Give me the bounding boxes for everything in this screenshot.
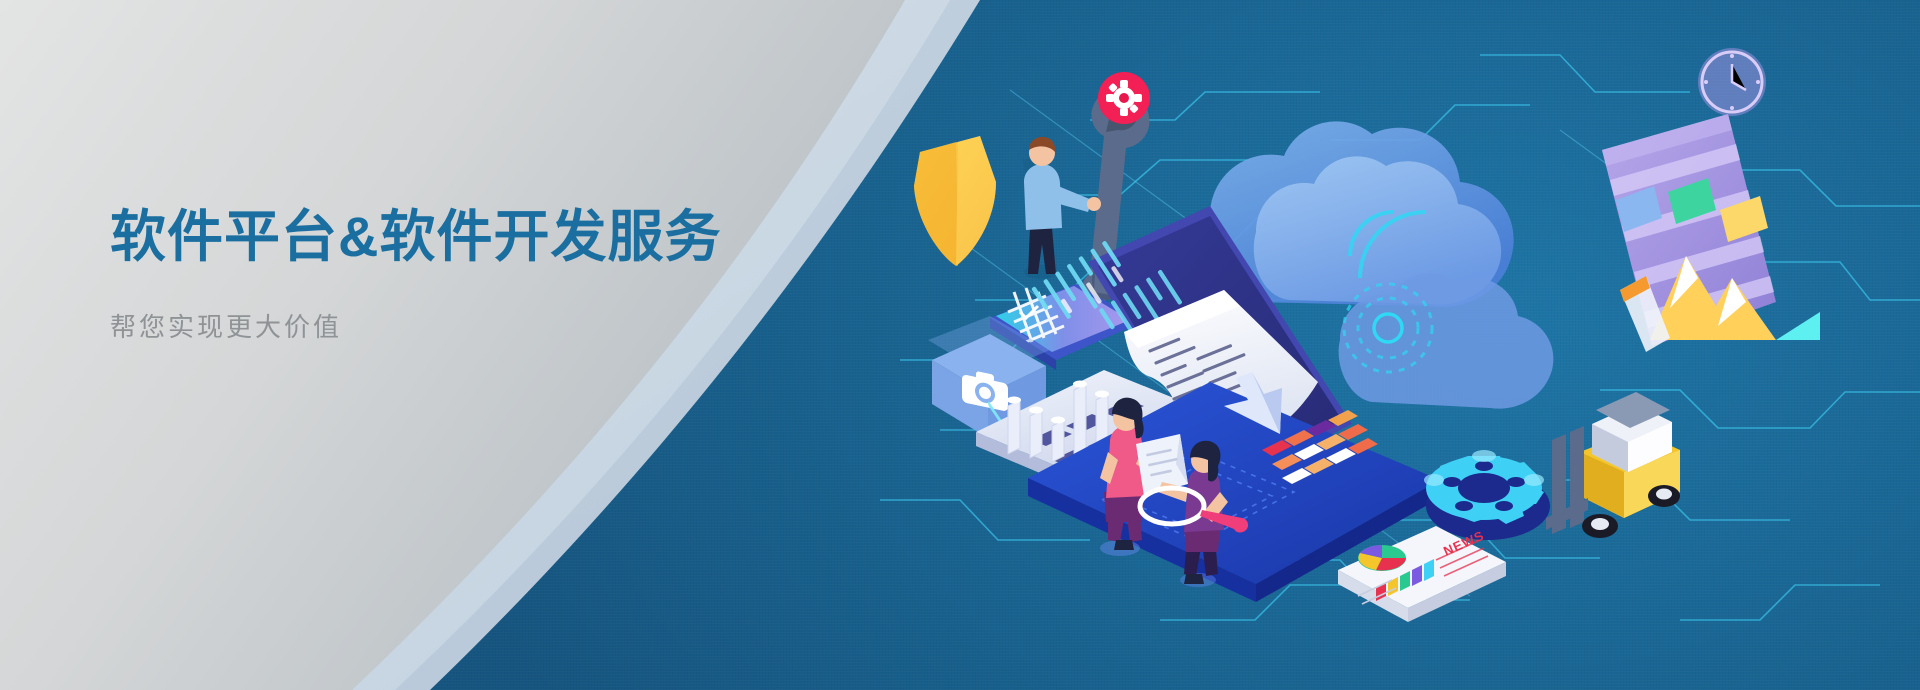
forklift-icon	[1546, 392, 1680, 538]
gears-icon	[1424, 450, 1550, 540]
banner-text-block: 软件平台&软件开发服务 帮您实现更大价值	[110, 206, 810, 344]
person-engineer	[1022, 137, 1101, 279]
shield-icon	[914, 136, 996, 266]
hero-banner: 软件平台&软件开发服务 帮您实现更大价值	[0, 0, 1920, 690]
isometric-illustration: NEWS	[880, 40, 1920, 660]
banner-headline: 软件平台&软件开发服务	[110, 206, 810, 269]
clock-icon	[1698, 48, 1766, 116]
gear-badge-icon	[1098, 72, 1150, 124]
banner-subheadline: 帮您实现更大价值	[110, 307, 810, 344]
document-panel	[1602, 48, 1820, 352]
